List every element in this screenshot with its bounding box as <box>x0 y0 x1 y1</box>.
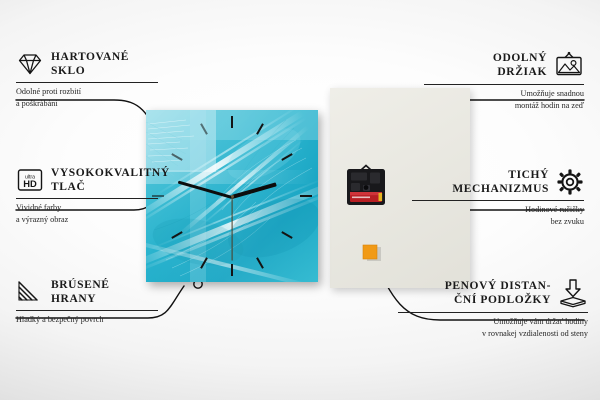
feature-divider <box>16 310 158 311</box>
feature-silent-mechanism[interactable]: TICHÝ MECHANIZMUS <box>412 168 584 227</box>
clock-second-hand <box>231 197 232 261</box>
feature-title-line1: PENOVÝ DISTAN- <box>445 279 551 293</box>
feature-desc-line1: Umožňuje snadnou <box>424 88 584 100</box>
feature-desc-line2: a výrazný obraz <box>16 214 176 226</box>
feature-desc-line2: bez zvuku <box>412 216 584 228</box>
feature-title-line2: TLAČ <box>51 180 170 194</box>
feature-divider <box>16 82 158 83</box>
feature-title-line2: HRANY <box>51 292 110 306</box>
feature-title-line2: DRŽIAK <box>493 65 547 79</box>
feature-divider <box>16 198 158 199</box>
clock-tick <box>300 195 312 197</box>
feature-title-line2: MECHANIZMUS <box>452 182 549 196</box>
feature-desc-line2: v rovnakej vzdialenosti od steny <box>398 328 588 340</box>
feature-ground-edges[interactable]: BRÚSENÉ HRANY Hladký a bezpečný povrch <box>16 278 176 326</box>
feature-foam-spacers[interactable]: PENOVÝ DISTAN- ČNÍ PODLOŽKY Umožňuje vám… <box>398 278 588 339</box>
ultra-hd-icon: ultra HD <box>16 166 44 194</box>
gear-icon <box>556 168 584 196</box>
feature-divider <box>398 312 588 313</box>
feature-divider <box>424 84 584 85</box>
feature-desc-line1: Umožňuje vám držať hodiny <box>398 316 588 328</box>
feature-title-line1: BRÚSENÉ <box>51 278 110 292</box>
infographic-canvas: HARTOVANÉ SKLO Odolné proti rozbití a po… <box>0 0 600 400</box>
feature-title-line1: VYSOKOKVALITNÝ <box>51 166 170 180</box>
clock-center-hub <box>231 195 234 198</box>
feature-divider <box>412 200 584 201</box>
feature-title-line1: TICHÝ <box>452 168 549 182</box>
feature-title-line1: HARTOVANÉ <box>51 50 129 64</box>
foam-spacer-icon <box>558 278 588 308</box>
feature-desc-line1: Odolné proti rozbití <box>16 86 166 98</box>
clock-tick <box>231 116 233 128</box>
foam-spacer-pad <box>362 244 382 264</box>
feature-durable-hanger[interactable]: ODOLNÝ DRŽIAK Umožňuje snadnou montáž ho… <box>424 50 584 111</box>
svg-text:HD: HD <box>23 178 37 189</box>
feature-desc-line2: montáž hodin na zeď <box>424 100 584 112</box>
diamond-icon <box>16 50 44 78</box>
feature-desc-line1: Hodinové ručičky <box>412 204 584 216</box>
feature-title-line2: SKLO <box>51 64 129 78</box>
feature-desc-line1: Vividné farby <box>16 202 176 214</box>
feature-high-quality-print[interactable]: ultra HD VYSOKOKVALITNÝ TLAČ Vividné far… <box>16 166 176 225</box>
feature-title-line2: ČNÍ PODLOŽKY <box>445 293 551 307</box>
clock-movement-icon <box>345 163 387 207</box>
feature-desc-line1: Hladký a bezpečný povrch <box>16 314 176 326</box>
feature-desc-line2: a poškrábání <box>16 98 166 110</box>
feature-hardened-glass[interactable]: HARTOVANÉ SKLO Odolné proti rozbití a po… <box>16 50 166 109</box>
picture-hanger-icon <box>554 50 584 80</box>
clock-tick <box>231 264 233 276</box>
ground-edges-icon <box>16 278 44 306</box>
feature-title-line1: ODOLNÝ <box>493 51 547 65</box>
